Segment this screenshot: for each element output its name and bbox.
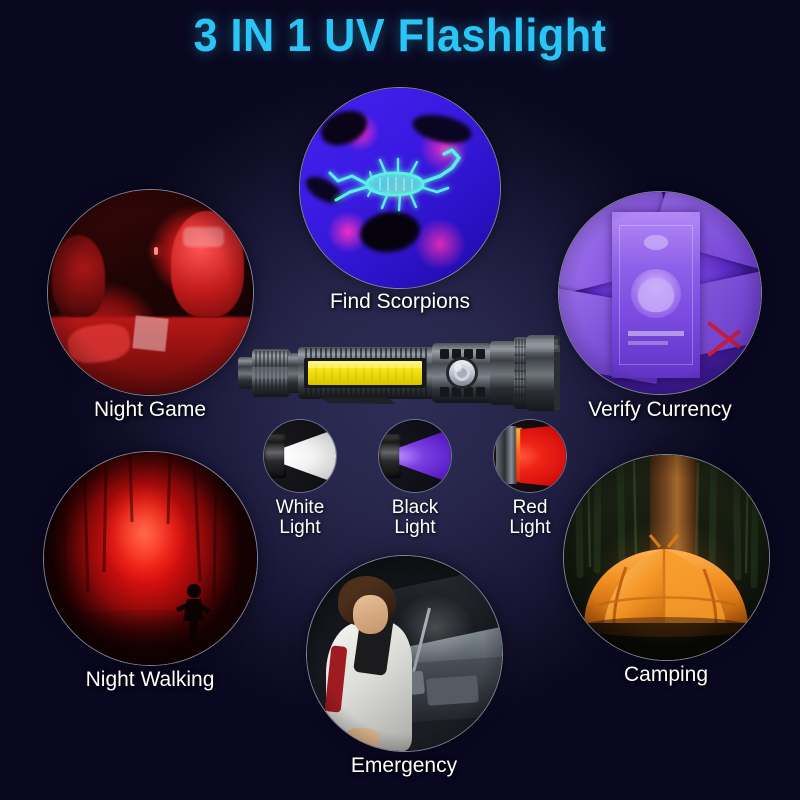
black-light-line2: Light <box>392 518 438 538</box>
white-light-line2: Light <box>276 518 325 538</box>
black-light-photo <box>379 420 451 492</box>
black-light-line1: Black <box>392 498 438 518</box>
page-title: 3 IN 1 UV Flashlight <box>24 8 776 62</box>
red-light-line1: Red <box>509 498 550 518</box>
mode-black-light: Black Light <box>365 420 465 492</box>
feature-camping: Camping <box>553 455 779 660</box>
emergency-photo <box>307 556 502 751</box>
red-beam <box>520 424 566 488</box>
verify-currency-caption: Verify Currency <box>588 398 732 422</box>
flashlight-product <box>236 331 562 415</box>
red-light-photo <box>494 420 566 492</box>
white-light-line1: White <box>276 498 325 518</box>
camping-caption: Camping <box>624 663 708 687</box>
feature-verify-currency: Verify Currency <box>548 192 772 394</box>
red-light-line2: Light <box>509 518 550 538</box>
white-light-caption: White Light <box>276 498 325 538</box>
white-light-photo <box>264 420 336 492</box>
night-walking-caption: Night Walking <box>86 668 215 692</box>
emergency-caption: Emergency <box>351 754 457 778</box>
find-scorpions-caption: Find Scorpions <box>330 290 470 314</box>
night-walking-photo <box>44 452 257 665</box>
night-game-photo <box>48 190 253 395</box>
scorpion-illustration <box>300 88 500 288</box>
white-lens-head <box>264 434 286 478</box>
camping-photo <box>564 455 769 660</box>
feature-emergency: Emergency <box>298 556 510 751</box>
red-light-caption: Red Light <box>509 498 550 538</box>
feature-find-scorpions: Find Scorpions <box>293 88 507 288</box>
mode-red-light: Red Light <box>480 420 580 492</box>
uv-lens-head <box>379 434 401 478</box>
feature-night-walking: Night Walking <box>30 452 270 665</box>
feature-night-game: Night Game <box>40 190 260 395</box>
mode-white-light: White Light <box>250 420 350 492</box>
black-light-caption: Black Light <box>392 498 438 538</box>
product-infographic: 3 IN 1 UV Flashlight <box>0 0 800 800</box>
night-game-caption: Night Game <box>94 398 206 422</box>
verify-currency-photo <box>559 192 761 394</box>
find-scorpions-photo <box>300 88 500 288</box>
